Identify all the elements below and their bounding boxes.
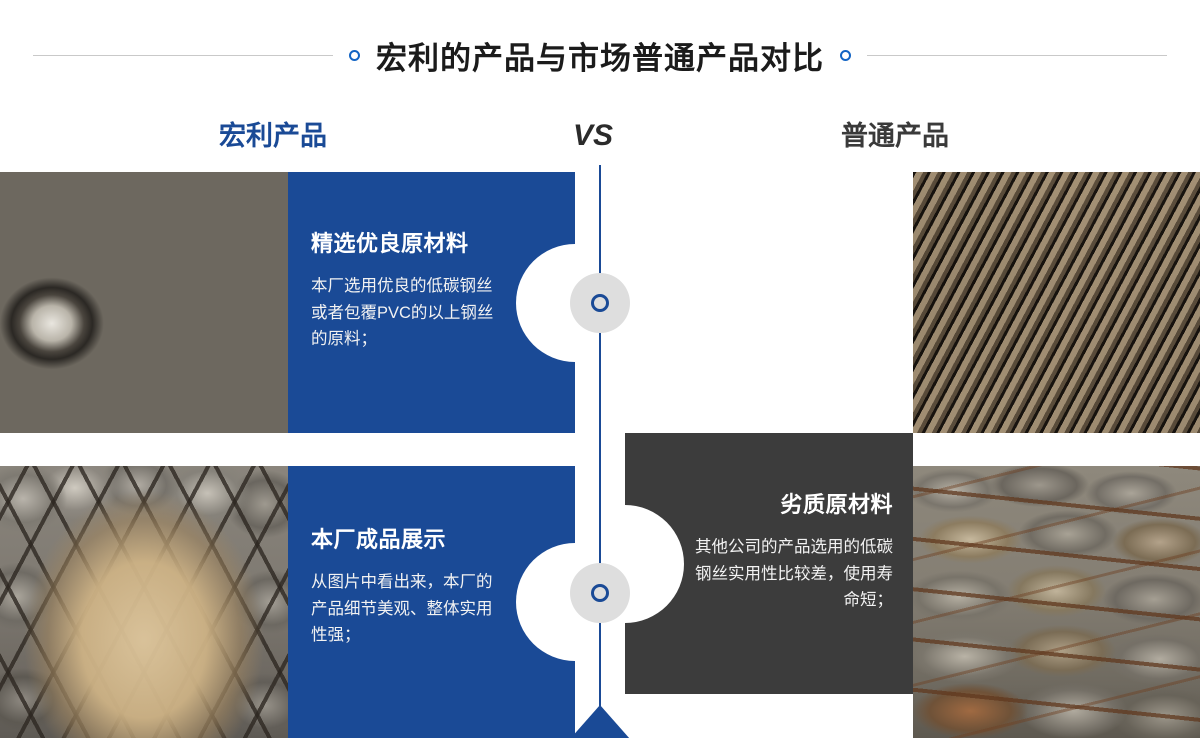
circle-outline-icon-left	[349, 50, 360, 61]
connector-node-bottom	[570, 563, 630, 623]
page-title-bar: 宏利的产品与市场普通产品对比	[0, 30, 1200, 80]
center-connector-line	[599, 165, 601, 710]
column-headers: 宏利产品 VS 普通产品	[0, 108, 1200, 164]
column-header-our-product: 宏利产品	[219, 108, 327, 164]
column-header-vs: VS	[573, 108, 613, 164]
photo-good-materials	[0, 172, 288, 433]
photo-bad-materials	[913, 172, 1200, 433]
card-good-finished: 本厂成品展示 从图片中看出来，本厂的产品细节美观、整体实用性强；	[288, 466, 575, 738]
title-rule-right	[867, 55, 1167, 56]
card-body: 从图片中看出来，本厂的产品细节美观、整体实用性强；	[311, 569, 505, 649]
title-rule-left	[33, 55, 333, 56]
card-good-materials: 精选优良原材料 本厂选用优良的低碳钢丝或者包覆PVC的以上钢丝的原料；	[288, 172, 575, 433]
column-header-ordinary-product: 普通产品	[841, 108, 949, 164]
photo-good-finished	[0, 466, 288, 738]
circle-ring-icon	[591, 294, 609, 312]
circle-outline-icon-right	[840, 50, 851, 61]
card-title: 精选优良原材料	[311, 226, 505, 258]
circle-ring-icon	[591, 584, 609, 602]
card-body: 本厂选用优良的低碳钢丝或者包覆PVC的以上钢丝的原料；	[311, 273, 505, 353]
product-comparison-page: 宏利的产品与市场普通产品对比 宏利产品 VS 普通产品 精选优良原材料 本厂选用…	[0, 0, 1200, 738]
card-title: 本厂成品展示	[311, 522, 505, 554]
triangle-down-icon	[570, 705, 630, 738]
photo-bad-finished	[913, 466, 1200, 738]
connector-node-top	[570, 273, 630, 333]
page-title: 宏利的产品与市场普通产品对比	[376, 33, 824, 78]
